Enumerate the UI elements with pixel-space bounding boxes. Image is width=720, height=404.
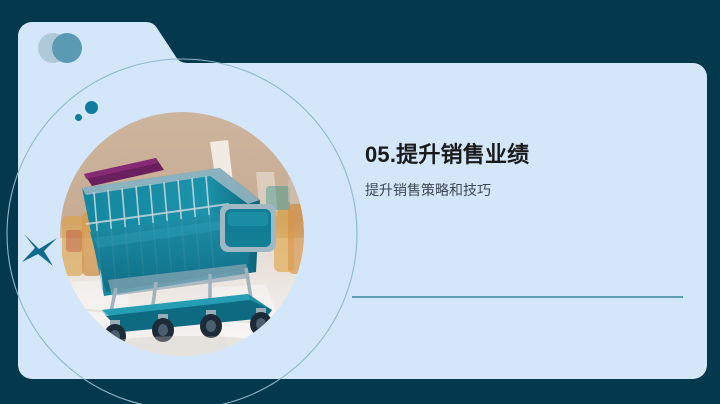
divider-line — [352, 296, 683, 298]
text-block: 05.提升销售业绩 提升销售策略和技巧 — [365, 140, 685, 201]
shopping-cart-photo — [60, 112, 304, 356]
decorative-circle-teal — [52, 33, 82, 63]
four-point-star-icon — [19, 229, 59, 269]
slide-canvas: 05.提升销售业绩 提升销售策略和技巧 — [0, 0, 720, 404]
decorative-dot-large — [85, 101, 98, 114]
decorative-dot-small — [75, 114, 82, 121]
slide-title: 05.提升销售业绩 — [365, 140, 685, 170]
slide-subtitle: 提升销售策略和技巧 — [365, 179, 685, 201]
